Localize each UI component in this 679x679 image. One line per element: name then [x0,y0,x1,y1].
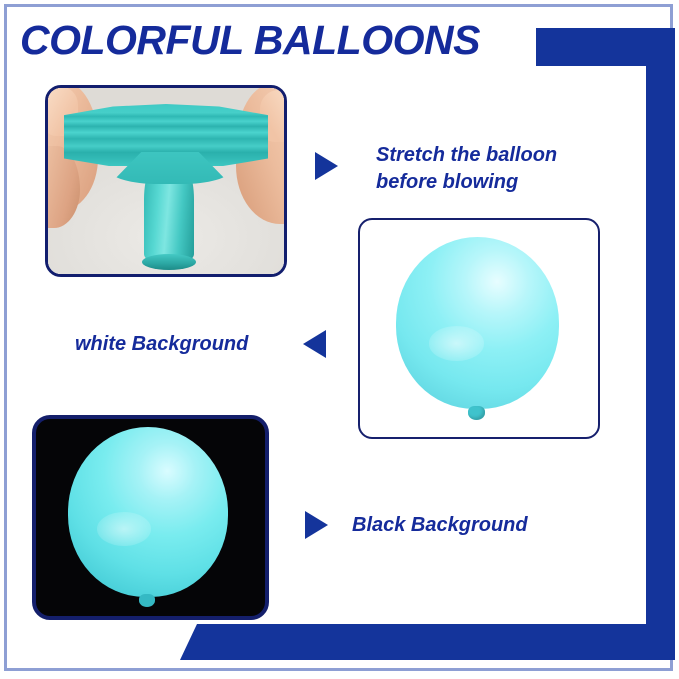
caption-stretch: Stretch the balloon before blowing [376,142,606,196]
caption-stretch-line-2: before blowing [376,169,606,196]
balloon-shape-black [68,427,228,597]
caption-stretch-line-1: Stretch the balloon [376,142,606,169]
photo-balloon-white-background [358,218,600,439]
arrow-right-icon-black [305,511,328,539]
caption-white-background: white Background [75,331,290,358]
bottom-blue-band [180,624,675,660]
caption-black-background: Black Background [352,512,582,539]
photo-stretch-balloon [45,85,287,277]
right-blue-bar [646,28,675,624]
balloon-knot-black [139,594,155,607]
arrow-right-icon-stretch [315,152,338,180]
infographic-root: COLORFUL BALLOONS Stretch the balloon be… [0,0,679,679]
arrow-left-icon-white [303,330,326,358]
balloon-knot-white [468,406,485,420]
balloon-neck [144,154,194,262]
page-title: COLORFUL BALLOONS [20,17,540,63]
caption-black-line-1: Black Background [352,512,582,539]
caption-white-line-1: white Background [75,331,290,358]
balloon-lip [142,254,196,270]
photo-balloon-black-background [32,415,269,620]
balloon-shape-white [396,237,559,409]
